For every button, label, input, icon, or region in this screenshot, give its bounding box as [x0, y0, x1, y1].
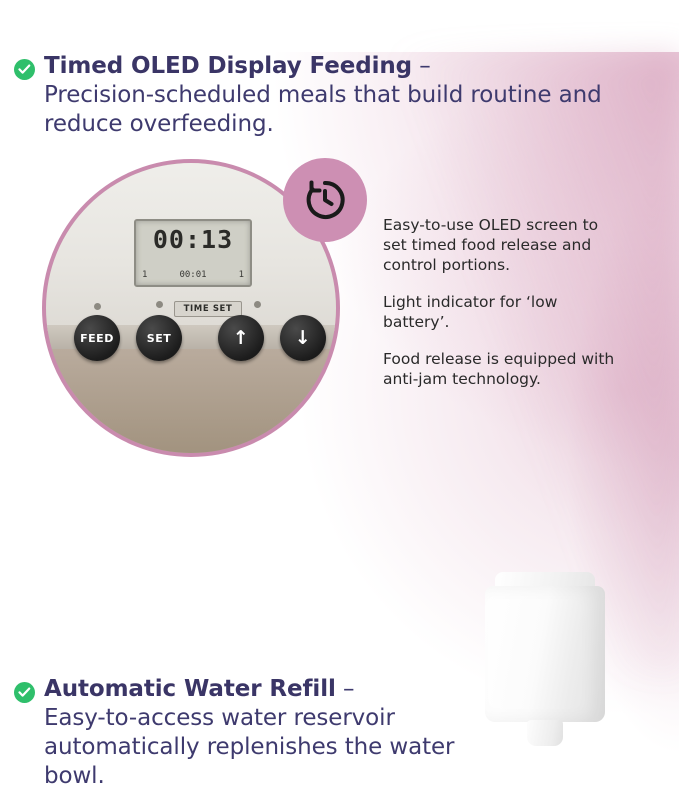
feature-description: Easy-to-access water reservoir automatic…: [44, 705, 454, 789]
note-item: Light indicator for ‘low battery’.: [383, 292, 615, 332]
led-indicator-up: [254, 301, 261, 308]
display-sub-right: 1: [239, 270, 244, 280]
feature-title: Automatic Water Refill: [44, 676, 336, 702]
reservoir-neck: [527, 720, 563, 746]
down-button[interactable]: ↓: [280, 315, 326, 361]
reservoir-body: [485, 586, 605, 722]
display-sub-center: 00:01: [179, 270, 206, 280]
feature-title-dash: –: [336, 676, 355, 702]
feature-notes-list: Easy-to-use OLED screen to set timed foo…: [383, 215, 615, 406]
display-subline: 1 00:01 1: [136, 270, 250, 280]
note-item: Easy-to-use OLED screen to set timed foo…: [383, 215, 615, 275]
up-button[interactable]: ↑: [218, 315, 264, 361]
feature-title: Timed OLED Display Feeding: [44, 53, 412, 79]
note-item: Food release is equipped with anti-jam t…: [383, 349, 615, 389]
display-sub-left: 1: [142, 270, 147, 280]
feature-title-block: Automatic Water Refill – Easy-to-access …: [44, 675, 484, 791]
set-button[interactable]: SET: [136, 315, 182, 361]
product-photo-block: 00:13 1 00:01 1 TIME SET FEED SET ↑ ↓: [0, 153, 679, 453]
display-time: 00:13: [136, 225, 250, 254]
page-content: Timed OLED Display Feeding – Precision-s…: [0, 52, 679, 791]
device-body-bottom: [46, 349, 336, 453]
time-set-label: TIME SET: [174, 301, 242, 317]
check-circle-icon: [14, 59, 35, 80]
led-indicator-set: [156, 301, 163, 308]
feature-title-dash: –: [412, 53, 431, 79]
water-reservoir-photo: [485, 572, 605, 748]
oled-display: 00:13 1 00:01 1: [134, 219, 252, 287]
led-indicator-feed: [94, 303, 101, 310]
check-circle-icon: [14, 682, 35, 703]
feature-title-block: Timed OLED Display Feeding – Precision-s…: [44, 52, 665, 139]
feature-description: Precision-scheduled meals that build rou…: [44, 82, 602, 137]
feature-heading-timed-oled: Timed OLED Display Feeding – Precision-s…: [0, 52, 679, 139]
feed-button[interactable]: FEED: [74, 315, 120, 361]
clock-timer-icon: [283, 158, 367, 242]
